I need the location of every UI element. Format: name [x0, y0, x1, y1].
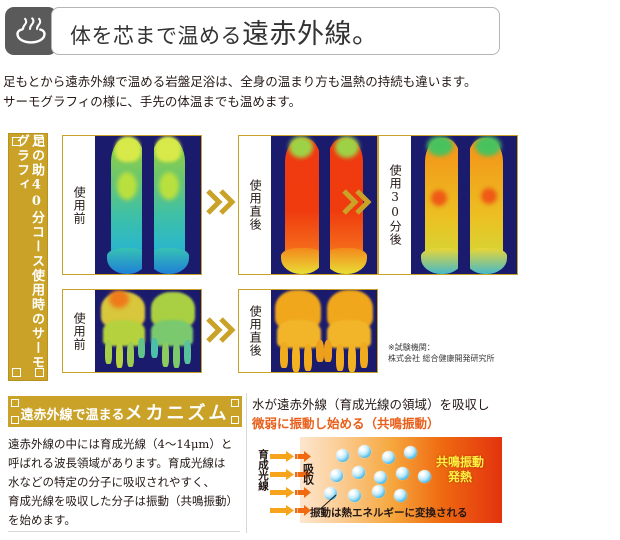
- mechanism-heading-line-1: 水が遠赤外線（育成光線の領域）を吸収し: [252, 395, 552, 414]
- lead-paragraph: 足もとから遠赤外線で温める岩盤足浴は、全身の温まり方も温熱の持続も違います。 サ…: [3, 72, 603, 112]
- mechanism-section: 遠赤外線で温まるメカニズム 水が遠赤外線（育成光線の領域）を吸収し 微弱に振動し…: [0, 393, 620, 540]
- mechanism-banner-text: 遠赤外線で温まるメカニズム: [20, 399, 229, 425]
- footnote-line-1: ※試験機関：: [388, 342, 495, 353]
- corner-mark: [12, 368, 21, 377]
- thermal-image-hands-immediately-after: [271, 290, 377, 372]
- water-molecule: [382, 451, 395, 464]
- test-institution-footnote: ※試験機関： 株式会社 総合健康開発研究所: [388, 342, 495, 364]
- page-title-prefix: 体を芯まで温める: [70, 24, 242, 48]
- mechanism-body-line: 育成光線を吸収した分子は振動（共鳴振動）: [8, 492, 240, 511]
- panel-label: 使用前: [63, 136, 95, 274]
- panel-label-text: 使用直後: [248, 305, 262, 357]
- corner-mark: [11, 416, 19, 424]
- arrow-legs-2: [342, 189, 372, 215]
- thermal-image-legs-before: [95, 136, 201, 274]
- heat-conversion-label: 振動は熱エネルギーに変換される: [310, 505, 468, 520]
- mechanism-heading: 水が遠赤外線（育成光線の領域）を吸収し 微弱に振動し始める（共鳴振動）: [252, 395, 552, 433]
- water-molecule: [372, 485, 385, 498]
- water-molecule: [404, 446, 417, 459]
- thermal-panel-hands-immediately-after: 使用直後: [238, 289, 378, 373]
- panel-label-text: 使用30分後: [388, 164, 402, 246]
- ray-arrow: [270, 447, 326, 458]
- mechanism-heading-line-2: 微弱に振動し始める（共鳴振動）: [252, 414, 552, 433]
- absorption-label: 吸収: [302, 463, 314, 485]
- infographic-page: 体を芯まで温める遠赤外線。 足もとから遠赤外線で温める岩盤足浴は、全身の温まり方…: [0, 0, 620, 540]
- panel-label: 使用前: [63, 290, 95, 372]
- corner-mark: [231, 399, 239, 407]
- mechanism-body-line: 呼ばれる波長領域があります。育成光線は: [8, 454, 240, 473]
- water-molecule: [330, 469, 343, 482]
- mechanism-body-text: 遠赤外線の中には育成光線（4～14μm）と 呼ばれる波長領域があります。育成光線…: [8, 435, 240, 530]
- resonance-heat-label: 共鳴振動 発熱: [424, 455, 496, 485]
- arrow-legs-1: [206, 189, 236, 215]
- panel-label-text: 使用直後: [248, 179, 262, 231]
- lead-line-1: 足もとから遠赤外線で温める岩盤足浴は、全身の温まり方も温熱の持続も違います。: [3, 72, 603, 92]
- panel-label: 使用30分後: [379, 136, 411, 274]
- thermal-image-legs-30min-after: [411, 136, 517, 274]
- corner-mark: [35, 368, 44, 377]
- resonance-line-1: 共鳴振動: [424, 455, 496, 470]
- mechanism-diagram: 育成光線: [252, 437, 502, 523]
- mechanism-banner-prefix: 遠赤外線で温まる: [20, 408, 124, 423]
- arrow-hands-1: [206, 317, 236, 343]
- vertical-divider: [246, 393, 247, 533]
- resonance-line-2: 発熱: [424, 470, 496, 485]
- mechanism-banner: 遠赤外線で温まるメカニズム: [8, 396, 242, 427]
- panel-label: 使用直後: [239, 136, 271, 274]
- water-molecule: [396, 467, 409, 480]
- page-header: 体を芯まで温める遠赤外線。: [5, 7, 500, 55]
- thermal-panel-hands-before: 使用前: [62, 289, 202, 373]
- mechanism-body-line: 遠赤外線の中には育成光線（4～14μm）と: [8, 435, 240, 454]
- water-molecule: [374, 471, 387, 484]
- water-molecule: [336, 449, 349, 462]
- lead-line-2: サーモグラフィの様に、手先の体温までも温めます。: [3, 92, 603, 112]
- onsen-hotspring-icon: [5, 7, 57, 55]
- panel-label-text: 使用前: [72, 186, 86, 225]
- section-underline: [8, 531, 240, 532]
- panel-label-text: 使用前: [72, 312, 86, 351]
- thermal-panel-legs-30min-after: 使用30分後: [378, 135, 518, 275]
- corner-mark: [231, 416, 239, 424]
- panel-label: 使用直後: [239, 290, 271, 372]
- header-title-box: 体を芯まで温める遠赤外線。: [51, 7, 500, 55]
- corner-mark: [35, 137, 44, 146]
- ray-arrow: [270, 465, 326, 476]
- footnote-line-2: 株式会社 総合健康開発研究所: [388, 353, 495, 364]
- corner-mark: [11, 399, 19, 407]
- water-molecule: [352, 466, 365, 479]
- thermography-banner-label: 足の助40分コース使用時のサーモグラフィ: [13, 134, 43, 380]
- water-molecule: [348, 489, 361, 502]
- growth-ray-label: 育成光線: [252, 449, 268, 491]
- mechanism-banner-main: メカニズム: [125, 403, 230, 424]
- mechanism-body-line: を始めます。: [8, 511, 240, 530]
- water-molecule: [358, 445, 371, 458]
- thermography-vertical-banner: 足の助40分コース使用時のサーモグラフィ: [8, 133, 48, 381]
- mechanism-body-line: 水などの特定の分子に吸収されやすく、: [8, 473, 240, 492]
- page-title-main: 遠赤外線。: [242, 19, 380, 50]
- thermal-image-hands-before: [95, 290, 201, 372]
- thermal-panel-legs-before: 使用前: [62, 135, 202, 275]
- page-title: 体を芯まで温める遠赤外線。: [70, 12, 380, 51]
- corner-mark: [12, 137, 21, 146]
- water-molecule: [394, 489, 407, 502]
